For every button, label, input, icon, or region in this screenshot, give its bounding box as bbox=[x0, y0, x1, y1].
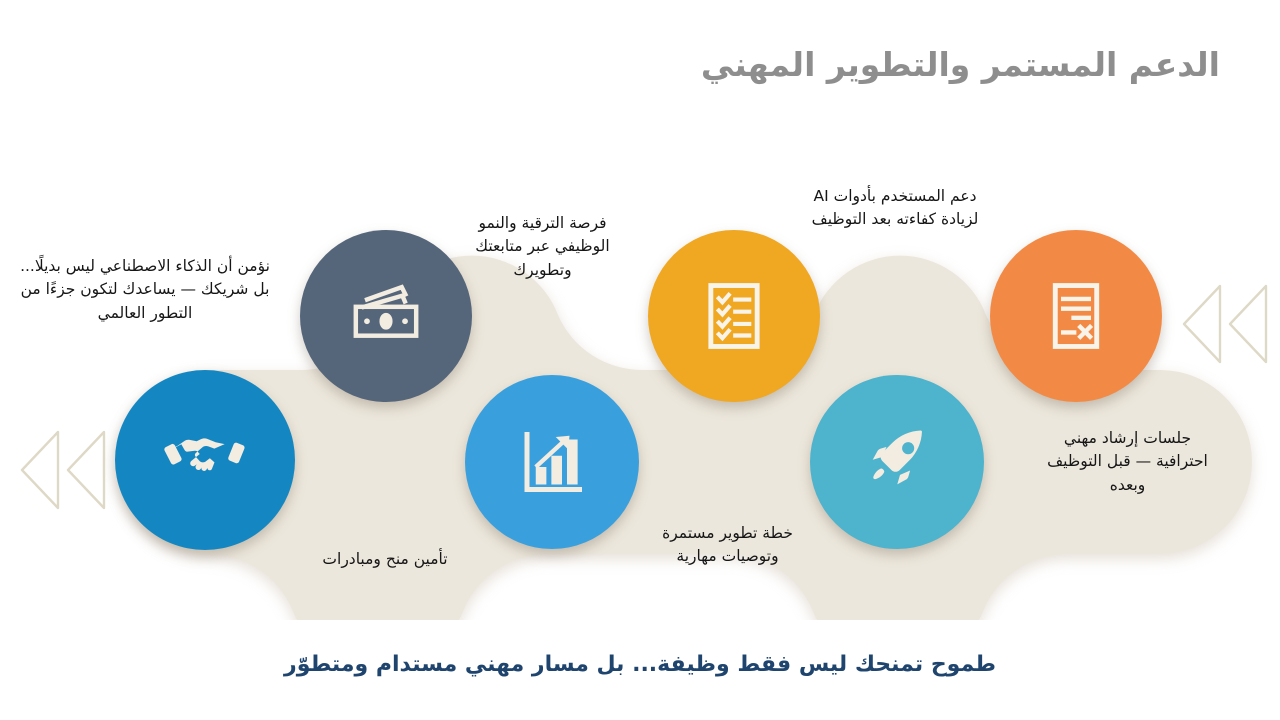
label-promotion: فرصة الترقية والنمو الوظيفي عبر متابعتك … bbox=[455, 212, 630, 282]
node-handshake[interactable] bbox=[115, 370, 295, 550]
label-grants: تأمين منح ومبادرات bbox=[285, 548, 485, 571]
banknotes-icon bbox=[344, 274, 428, 358]
chevron-left-decoration bbox=[14, 428, 114, 512]
document-signature-icon bbox=[1037, 277, 1115, 355]
slide-canvas: الدعم المستمر والتطوير المهني bbox=[0, 0, 1280, 720]
bar-chart-arrow-icon bbox=[512, 422, 592, 502]
label-ai-partner: نؤمن أن الذكاء الاصطناعي ليس بديلًا... ب… bbox=[10, 255, 280, 325]
label-dev-plan: خطة تطوير مستمرة وتوصيات مهارية bbox=[635, 522, 820, 569]
handshake-icon bbox=[164, 419, 246, 501]
node-growth-chart[interactable] bbox=[465, 375, 639, 549]
page-title: الدعم المستمر والتطوير المهني bbox=[500, 44, 1220, 85]
footer-caption: طموح تمنحك ليس فقط وظيفة... بل مسار مهني… bbox=[0, 652, 1280, 677]
label-mentoring: جلسات إرشاد مهني احترافية — قبل التوظيف … bbox=[1040, 427, 1215, 497]
rocket-icon bbox=[855, 420, 939, 504]
node-rocket[interactable] bbox=[810, 375, 984, 549]
node-document[interactable] bbox=[990, 230, 1162, 402]
chevron-right-decoration bbox=[1176, 282, 1276, 366]
node-checklist[interactable] bbox=[648, 230, 820, 402]
checklist-icon bbox=[695, 277, 773, 355]
node-banknotes[interactable] bbox=[300, 230, 472, 402]
label-ai-support: دعم المستخدم بأدوات AI لزيادة كفاءته بعد… bbox=[800, 185, 990, 232]
